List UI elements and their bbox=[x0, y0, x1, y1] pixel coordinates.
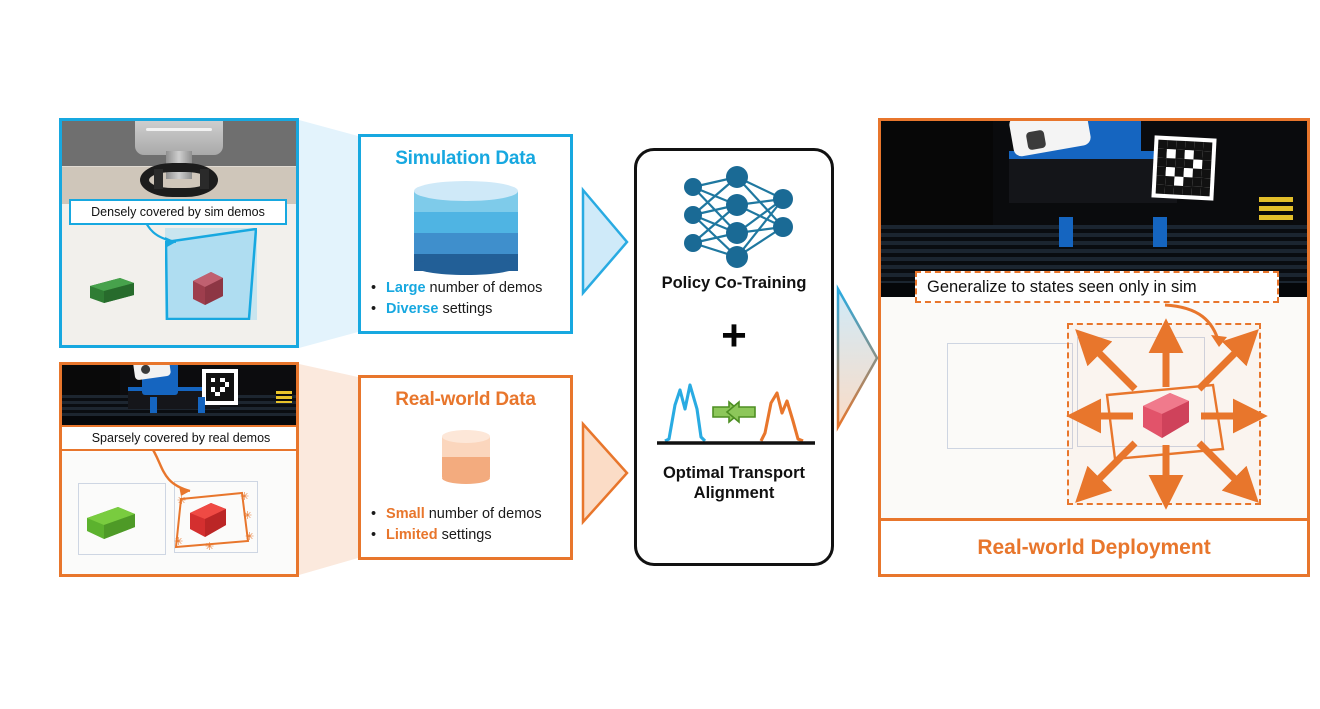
neural-network-icon bbox=[671, 165, 801, 269]
plus-operator-icon: + bbox=[637, 314, 831, 358]
sim-robot-head-icon bbox=[135, 121, 223, 155]
simulation-data-card: Simulation Data • Large number of demos … bbox=[358, 134, 573, 334]
simulation-bullet-list: • Large number of demos • Diverse settin… bbox=[371, 278, 542, 322]
sim-green-block bbox=[90, 278, 134, 303]
simulation-image-panel: Densely covered by sim demos bbox=[59, 118, 299, 348]
sim-red-block bbox=[193, 272, 223, 305]
list-item: • Large number of demos bbox=[371, 278, 542, 300]
generalize-note-pointer-arrow bbox=[1159, 299, 1247, 359]
method-card: Policy Co-Training + Optimal Transport A… bbox=[634, 148, 834, 566]
apriltag-marker-icon bbox=[202, 369, 238, 405]
real-world-bullet-list: • Small number of demos • Limited settin… bbox=[371, 504, 542, 548]
ot-line2: Alignment bbox=[637, 483, 831, 503]
real-pointer-arrow bbox=[140, 441, 210, 513]
ot-line1: Optimal Transport bbox=[637, 463, 831, 483]
real-green-block bbox=[87, 507, 135, 539]
sim-caption-box: Densely covered by sim demos bbox=[69, 199, 287, 225]
sim-tabletop bbox=[62, 204, 296, 345]
real-wedge bbox=[299, 364, 358, 575]
deployment-caption-text: Real-world Deployment bbox=[977, 536, 1210, 560]
real-to-method-arrow bbox=[583, 424, 627, 522]
list-item: • Limited settings bbox=[371, 525, 542, 547]
list-item: • Small number of demos bbox=[371, 504, 542, 526]
real-world-data-title: Real-world Data bbox=[361, 389, 570, 411]
simulation-data-title: Simulation Data bbox=[361, 148, 570, 170]
generalize-note-text: Generalize to states seen only in sim bbox=[927, 278, 1197, 297]
real-caption-text: Sparsely covered by real demos bbox=[92, 431, 271, 445]
sim-wedge bbox=[299, 120, 358, 348]
policy-co-training-label: Policy Co-Training bbox=[637, 273, 831, 293]
method-to-deployment-arrow bbox=[838, 289, 877, 427]
distribution-alignment-icon bbox=[653, 379, 819, 455]
deployment-red-block bbox=[1143, 393, 1189, 438]
real-world-data-card: Real-world Data • Small number of demos … bbox=[358, 375, 573, 560]
database-cylinder-large-icon bbox=[414, 181, 518, 275]
real-tabletop: ✳ ✳ ✳ ✳ ✳ ✳ bbox=[62, 453, 296, 574]
real-image-panel: ✳ ✳ ✳ ✳ ✳ ✳ Sparsely covered by real dem… bbox=[59, 362, 299, 577]
apriltag-marker-icon bbox=[1151, 135, 1216, 200]
deployment-panel: Generalize to states seen only in sim Re… bbox=[878, 118, 1310, 577]
sim-caption-text: Densely covered by sim demos bbox=[91, 205, 265, 219]
database-cylinder-small-icon bbox=[442, 430, 490, 484]
optimal-transport-label: Optimal Transport Alignment bbox=[637, 463, 831, 503]
real-robot-photo bbox=[62, 365, 296, 425]
sim-to-method-arrow bbox=[583, 190, 627, 293]
sim-robot-render bbox=[62, 121, 296, 204]
real-caption-box: Sparsely covered by real demos bbox=[61, 425, 299, 451]
list-item: • Diverse settings bbox=[371, 299, 542, 321]
deployment-caption: Real-world Deployment bbox=[881, 518, 1307, 574]
